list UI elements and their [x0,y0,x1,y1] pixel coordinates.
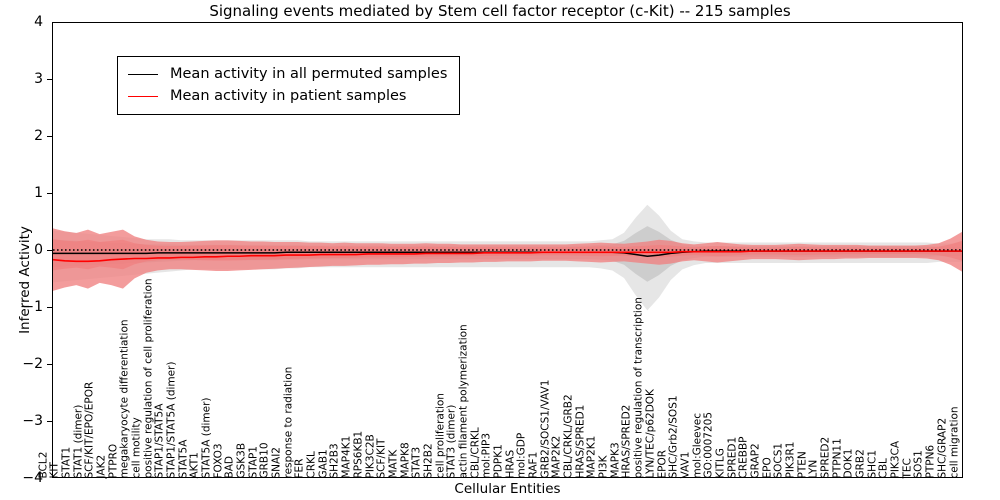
x-tick-label: BAD [225,456,236,478]
x-tick-label: PIK3C2B [365,434,376,478]
legend: Mean activity in all permuted samplesMea… [117,56,460,115]
x-tick-label: mol:Gleevec [692,412,703,478]
x-tick-label: AKT1 [190,452,201,478]
x-tick-label: SH2B2 [423,443,434,478]
y-tick-label: 2 [34,128,43,144]
x-tick-label: SCF/KIT/EPO/EPOR [85,381,96,478]
legend-item: Mean activity in all permuted samples [128,63,447,85]
x-tick-label: SHC/Grb2/SOS1 [669,395,680,478]
y-tick-label: 4 [34,14,43,30]
x-tick-label: EPOR [657,449,668,478]
x-tick-label: cell proliferation [435,393,446,478]
x-tick-label: PDPK1 [494,444,505,478]
x-tick-label: STAT3 [412,446,423,478]
x-tick-label: PTPN11 [832,438,843,478]
x-tick-label: GRB2 [856,449,867,478]
x-tick-label: cell migration [949,406,960,478]
x-tick-label: FOXO3 [213,443,224,478]
y-axis: Inferred Activity 43210−1−2−3−4 [0,22,52,478]
x-tick-label: actin filament polymerization [458,324,469,478]
x-tick-label: PTEN [797,451,808,478]
x-tick-label: CBL/CRKL/GRB2 [564,394,575,478]
x-tick-label: GAB1 [318,449,329,478]
plot-area: Mean activity in all permuted samplesMea… [52,22,963,478]
x-tick-label: CRKL [307,451,318,478]
x-tick-label: GRB10 [260,442,271,478]
x-tick-label: CBL/CRKL [470,427,481,478]
legend-item: Mean activity in patient samples [128,85,447,107]
x-tick-label: PIK3CA [891,440,902,478]
x-tick-label: cell motility [131,417,142,478]
x-tick-label: HRAS/SPRED2 [622,404,633,478]
x-tick-label: SCF/KIT [377,438,388,478]
x-tick-label: mol:PIP3 [482,432,493,478]
x-tick-label: SPRED1 [727,436,738,478]
x-tick-label: STAP1/STAT5A [155,403,166,478]
y-tick-label: −1 [22,299,43,315]
x-tick-label: SHC1 [867,449,878,478]
x-axis-title: Cellular Entities [52,481,963,497]
x-tick-label: FER [295,458,306,478]
x-tick-label: VAV1 [680,451,691,478]
legend-label: Mean activity in all permuted samples [170,66,447,82]
x-tick-label: EPO [762,457,773,478]
x-tick-label: RPS6KB1 [353,430,364,478]
y-tick-label: 1 [34,185,43,201]
x-tick-label: LYN/TEC/p62DOK [645,389,656,478]
x-tick-label: SH2B3 [330,443,341,478]
x-tick-label: PTPRO [108,443,119,478]
x-tick-label: BCL2 [38,451,49,478]
legend-swatch [128,74,158,75]
x-tick-label: response to radiation [283,366,294,478]
x-tick-label: HRAS/SPRED1 [575,404,586,478]
x-tick-label: MATK [388,449,399,478]
x-tick-label: RAF1 [529,451,540,478]
x-tick-label: STAT5A (dimer) [202,397,213,478]
x-tick-label: PIK3R1 [785,441,796,478]
x-tick-label: GRB2/SOCS1/VAV1 [540,379,551,478]
y-tick-label: −2 [22,356,43,372]
x-tick-label: STAT5A [178,439,189,478]
x-tick-label: STAT1 (dimer) [73,404,84,478]
x-tick-label: STAP1/STAT5A (dimer) [166,361,177,478]
x-tick-label: STAT3 (dimer) [447,404,458,478]
x-tick-label: positive regulation of cell proliferatio… [143,278,154,478]
x-tick-label: KITLG [715,448,726,478]
x-tick-label: JAK2 [96,454,107,478]
x-tick-label: mol:GDP [517,432,528,478]
x-tick-label: SOS1 [914,450,925,478]
legend-label: Mean activity in patient samples [170,88,406,104]
x-tick-label: MAP2K1 [587,435,598,478]
x-tick-label: LYN [809,459,820,478]
x-tick-label: PI3K [599,455,610,478]
x-tick-label: MAPK8 [400,442,411,478]
x-tick-label: GRAP2 [750,443,761,478]
chart-title: Signaling events mediated by Stem cell f… [0,2,1000,20]
legend-swatch [128,96,158,97]
x-tick-label: SPRED2 [821,436,832,478]
x-tick-label: GSK3B [237,442,248,478]
y-tick-label: 3 [34,71,43,87]
x-tick-label: STAT1 [61,446,72,478]
x-tick-label: MAP4K1 [342,435,353,478]
x-tick-label: PTPN6 [926,444,937,478]
x-tick-label: HRAS [505,449,516,478]
x-tick-label: CBL [879,458,890,478]
x-tick-label: KIT [50,462,61,478]
y-tick-label: −3 [22,413,43,429]
x-tick-label: CREBBP [739,436,750,478]
x-tick-label: GO:0007205 [704,411,715,478]
x-tick-label: STAP1 [248,446,259,478]
x-tick-label: MAP2K2 [552,435,563,478]
x-tick-label: TEC [902,458,913,478]
x-tick-label: DOK1 [844,448,855,478]
x-tick-label: SOCS1 [774,442,785,478]
x-tick-label: positive regulation of transcription [634,297,645,478]
y-tick-label: 0 [34,242,43,258]
x-tick-label: SHC/GRAP2 [937,417,948,478]
x-tick-label: megakaryocyte differentiation [120,319,131,478]
chart-container: Signaling events mediated by Stem cell f… [0,0,1000,500]
x-tick-label: MAPK3 [610,442,621,478]
x-tick-label: SNAI2 [272,447,283,478]
